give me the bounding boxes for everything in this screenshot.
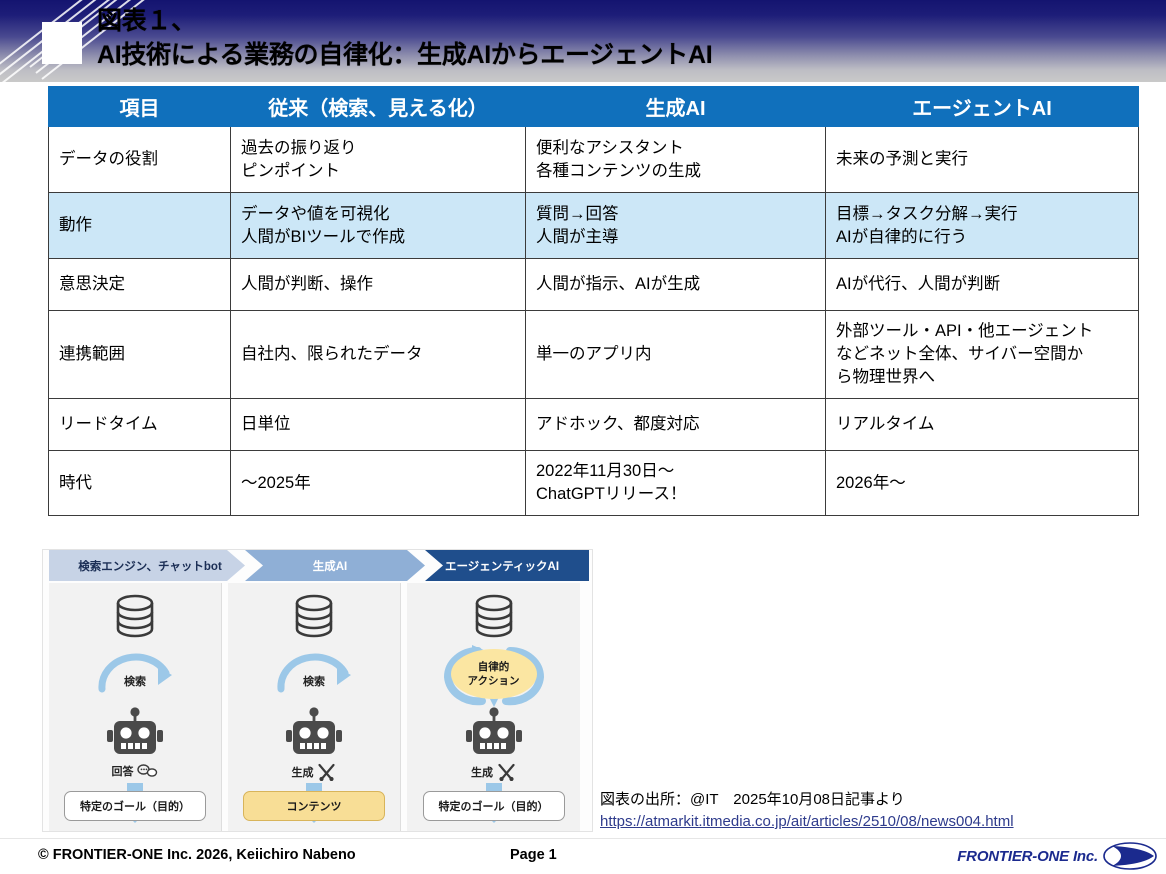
diagram-goal-box: 特定のゴール（目的） (423, 791, 565, 821)
diagram-under-label-group: 生成 (471, 763, 516, 781)
row-label: 連携範囲 (49, 311, 231, 399)
row-label: 時代 (49, 451, 231, 516)
table-header-row: 項目 従来（検索、見える化） 生成AI エージェントAI (49, 87, 1139, 127)
row-cell-agentai: 2026年〜 (826, 451, 1139, 516)
diagram-under-label: 生成 (471, 764, 493, 780)
logo-mark-icon (1102, 841, 1158, 871)
source-note: 図表の出所：@IT 2025年10月08日記事より https://atmark… (600, 789, 1166, 833)
auto-oval-line1: 自律的 (478, 660, 510, 674)
diagram-stage-label: 生成AI (307, 558, 348, 574)
row-cell-agentai: AIが代行、人間が判断 (826, 259, 1139, 311)
diagram-stage-header-genai: 生成AI (229, 550, 425, 581)
row-cell-legacy: 人間が判断、操作 (231, 259, 526, 311)
robot-icon (102, 707, 168, 763)
diagram-stage-header-search: 検索エンジン、チャットbot (49, 550, 245, 581)
speech-bubble-icon (137, 763, 159, 779)
footer-divider (0, 838, 1166, 839)
row-label: リードタイム (49, 399, 231, 451)
source-note-text: 図表の出所：@IT 2025年10月08日記事より (600, 789, 1166, 811)
robot-icon (281, 707, 347, 763)
row-cell-genai: 単一のアプリ内 (526, 311, 826, 399)
company-logo: FRONTIER-ONE Inc. (957, 841, 1158, 871)
table-row: 時代 〜2025年 2022年11月30日〜 ChatGPTリリース！ 2026… (49, 451, 1139, 516)
table-row: データの役割 過去の振り返り ピンポイント 便利なアシスタント 各種コンテンツの… (49, 127, 1139, 193)
tools-icon (317, 763, 337, 781)
header-banner: 図表１、 AI技術による業務の自律化：生成AIからエージェントAI (0, 0, 1166, 82)
table-row: 動作 データや値を可視化 人間がBIツールで作成 質問→回答 人間が主導 目標→… (49, 193, 1139, 259)
table-col-header-genai: 生成AI (526, 87, 826, 127)
diagram-under-label-group: 生成 (292, 763, 337, 781)
row-cell-agentai: 目標→タスク分解→実行 AIが自律的に行う (826, 193, 1139, 259)
row-cell-legacy: 日単位 (231, 399, 526, 451)
diagram-under-label-group: 回答 (112, 763, 159, 779)
evolution-diagram: 検索エンジン、チャットbot 生成AI エージェンティックAI 検索 (42, 549, 593, 832)
diagram-under-label: 生成 (292, 764, 314, 780)
autonomous-action-oval: 自律的 アクション (451, 649, 537, 699)
robot-icon (461, 707, 527, 763)
company-logo-text: FRONTIER-ONE Inc. (957, 848, 1098, 865)
diagram-goal-box: 特定のゴール（目的） (64, 791, 206, 821)
diagram-header-row: 検索エンジン、チャットbot 生成AI エージェンティックAI (43, 550, 593, 581)
diagram-goal-box: コンテンツ (243, 791, 385, 821)
database-icon (111, 593, 159, 643)
row-cell-agentai: 未来の予測と実行 (826, 127, 1139, 193)
row-cell-genai: 質問→回答 人間が主導 (526, 193, 826, 259)
comparison-table: 項目 従来（検索、見える化） 生成AI エージェントAI データの役割 過去の振… (48, 86, 1139, 516)
diagram-stage-header-agentic: エージェンティックAI (409, 550, 589, 581)
diagram-under-label: 回答 (112, 763, 134, 779)
table-row: 意思決定 人間が判断、操作 人間が指示、AIが生成 AIが代行、人間が判断 (49, 259, 1139, 311)
row-cell-genai: 2022年11月30日〜 ChatGPTリリース！ (526, 451, 826, 516)
row-label: データの役割 (49, 127, 231, 193)
table-col-header-item: 項目 (49, 87, 231, 127)
diagram-stage-label: 検索エンジン、チャットbot (72, 558, 222, 574)
row-label: 意思決定 (49, 259, 231, 311)
header-decor-square (42, 22, 82, 64)
tools-icon (496, 763, 516, 781)
row-cell-legacy: 〜2025年 (231, 451, 526, 516)
database-icon (470, 593, 518, 643)
footer-copyright: © FRONTIER-ONE Inc. 2026, Keiichiro Nabe… (38, 847, 356, 863)
row-cell-genai: 人間が指示、AIが生成 (526, 259, 826, 311)
diagram-column-agentic: 自律的 アクション 生成 特定 (407, 583, 580, 831)
diagram-column-genai: 検索 生成 コンテンツ (228, 583, 401, 831)
row-cell-agentai: リアルタイム (826, 399, 1139, 451)
table-row: 連携範囲 自社内、限られたデータ 単一のアプリ内 外部ツール・API・他エージェ… (49, 311, 1139, 399)
diagram-column-search: 検索 回答 特定のゴール（目的） (49, 583, 222, 831)
database-icon (290, 593, 338, 643)
row-cell-genai: 便利なアシスタント 各種コンテンツの生成 (526, 127, 826, 193)
row-cell-legacy: 自社内、限られたデータ (231, 311, 526, 399)
diagram-mid-label: 検索 (124, 673, 146, 689)
row-cell-genai: アドホック、都度対応 (526, 399, 826, 451)
page-title: 図表１、 AI技術による業務の自律化：生成AIからエージェントAI (97, 4, 1147, 72)
row-cell-legacy: データや値を可視化 人間がBIツールで作成 (231, 193, 526, 259)
source-link[interactable]: https://atmarkit.itmedia.co.jp/ait/artic… (600, 811, 1166, 833)
diagram-stage-label: エージェンティックAI (439, 558, 559, 574)
auto-oval-line2: アクション (468, 674, 520, 688)
table-col-header-legacy: 従来（検索、見える化） (231, 87, 526, 127)
table-col-header-agentai: エージェントAI (826, 87, 1139, 127)
diagram-mid-label: 検索 (303, 673, 325, 689)
row-cell-legacy: 過去の振り返り ピンポイント (231, 127, 526, 193)
row-label: 動作 (49, 193, 231, 259)
table-row: リードタイム 日単位 アドホック、都度対応 リアルタイム (49, 399, 1139, 451)
row-cell-agentai: 外部ツール・API・他エージェント などネット全体、サイバー空間か ら物理世界へ (826, 311, 1139, 399)
footer-page-number: Page 1 (510, 847, 557, 863)
